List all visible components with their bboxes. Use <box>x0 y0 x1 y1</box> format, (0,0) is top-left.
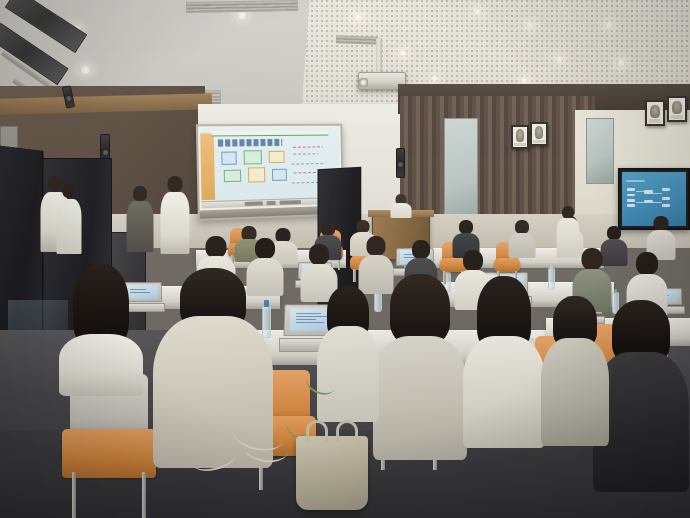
standing-attendee <box>126 186 154 252</box>
torso <box>463 336 545 448</box>
tote-handle <box>336 420 358 442</box>
torso <box>127 201 154 252</box>
torso <box>373 336 467 460</box>
seated-attendee-foreground <box>372 274 468 460</box>
head <box>412 240 430 259</box>
slide-sidebar <box>200 133 214 200</box>
chair-seat <box>62 429 156 478</box>
framed-portrait <box>667 96 687 122</box>
diagram-node <box>626 180 645 182</box>
diagram-connector <box>636 191 644 192</box>
diagram-connector <box>653 193 661 194</box>
water-bottle[interactable] <box>548 268 555 290</box>
diagram-node <box>662 197 670 200</box>
hair <box>390 274 450 344</box>
bottle-cap <box>550 265 553 269</box>
downlight <box>353 14 364 21</box>
downlight <box>520 78 529 83</box>
head <box>636 252 658 275</box>
taskbar-item <box>245 201 263 205</box>
diagram-node <box>627 188 635 191</box>
head <box>321 222 335 236</box>
head <box>168 176 183 192</box>
torso <box>161 192 190 254</box>
diagram-node <box>662 188 670 191</box>
head <box>459 220 473 234</box>
seated-attendee-foreground <box>316 286 380 422</box>
downlight <box>555 56 564 62</box>
slide-annotation-line <box>293 146 323 148</box>
diagram-node <box>644 200 653 203</box>
diagram-node <box>627 199 635 202</box>
presenter <box>390 194 412 218</box>
classroom-scene <box>0 0 690 518</box>
wall-speaker-right <box>396 148 405 178</box>
diagram-connector <box>653 202 661 203</box>
torso <box>509 233 536 258</box>
torso <box>57 199 82 254</box>
downlight <box>79 66 92 74</box>
tote-bag[interactable] <box>296 436 368 510</box>
standing-attendee <box>160 176 190 254</box>
slide-diagram-block <box>272 169 287 181</box>
taskbar-item <box>280 200 302 205</box>
head <box>607 226 621 240</box>
projector-mount-pole <box>376 38 382 74</box>
head <box>515 220 529 234</box>
presenter-body <box>391 203 412 218</box>
torso <box>59 334 143 396</box>
seated-attendee-foreground <box>540 296 610 446</box>
taskbar-item <box>267 201 275 205</box>
slide-headline <box>218 139 283 147</box>
seated-attendee-foreground <box>58 264 144 396</box>
downlight <box>604 22 614 28</box>
bottle-cap <box>614 289 617 293</box>
downlight <box>472 8 483 15</box>
diagram-connector <box>636 202 644 203</box>
downlight <box>398 50 408 56</box>
slide-diagram-block <box>244 150 263 164</box>
framed-portrait <box>530 122 548 146</box>
slide-diagram-block <box>269 151 284 163</box>
head <box>463 250 483 271</box>
head <box>133 186 147 201</box>
head <box>206 236 227 258</box>
diagram-node <box>627 194 635 197</box>
standing-attendee <box>56 184 82 254</box>
projector-lens <box>359 78 368 87</box>
framed-portrait <box>511 125 529 149</box>
head <box>255 238 275 259</box>
ceiling-air-vent <box>336 35 378 44</box>
diagram-node <box>644 190 653 193</box>
tote-handle <box>306 420 328 442</box>
diagram-node <box>662 204 670 207</box>
downlight <box>236 12 248 19</box>
head <box>582 248 603 270</box>
framed-portrait <box>645 100 665 126</box>
slide-annotation-line <box>291 163 323 165</box>
slide-diagram-block <box>248 167 265 182</box>
head <box>309 244 329 265</box>
downlight <box>525 22 535 28</box>
diagram-node <box>627 204 635 207</box>
downlight <box>616 60 626 66</box>
window <box>586 118 614 184</box>
slide-diagram-block <box>221 152 237 165</box>
slide-diagram-block <box>224 169 241 182</box>
seated-attendee-foreground <box>462 276 546 448</box>
head <box>654 216 669 231</box>
seated-attendee <box>508 220 536 258</box>
slide-annotation-line <box>294 153 318 155</box>
torso <box>541 338 609 446</box>
downlight <box>430 76 439 81</box>
head <box>63 184 76 198</box>
slide-title-bar <box>212 131 328 136</box>
head <box>367 236 386 256</box>
ceiling-air-vent <box>186 0 298 13</box>
